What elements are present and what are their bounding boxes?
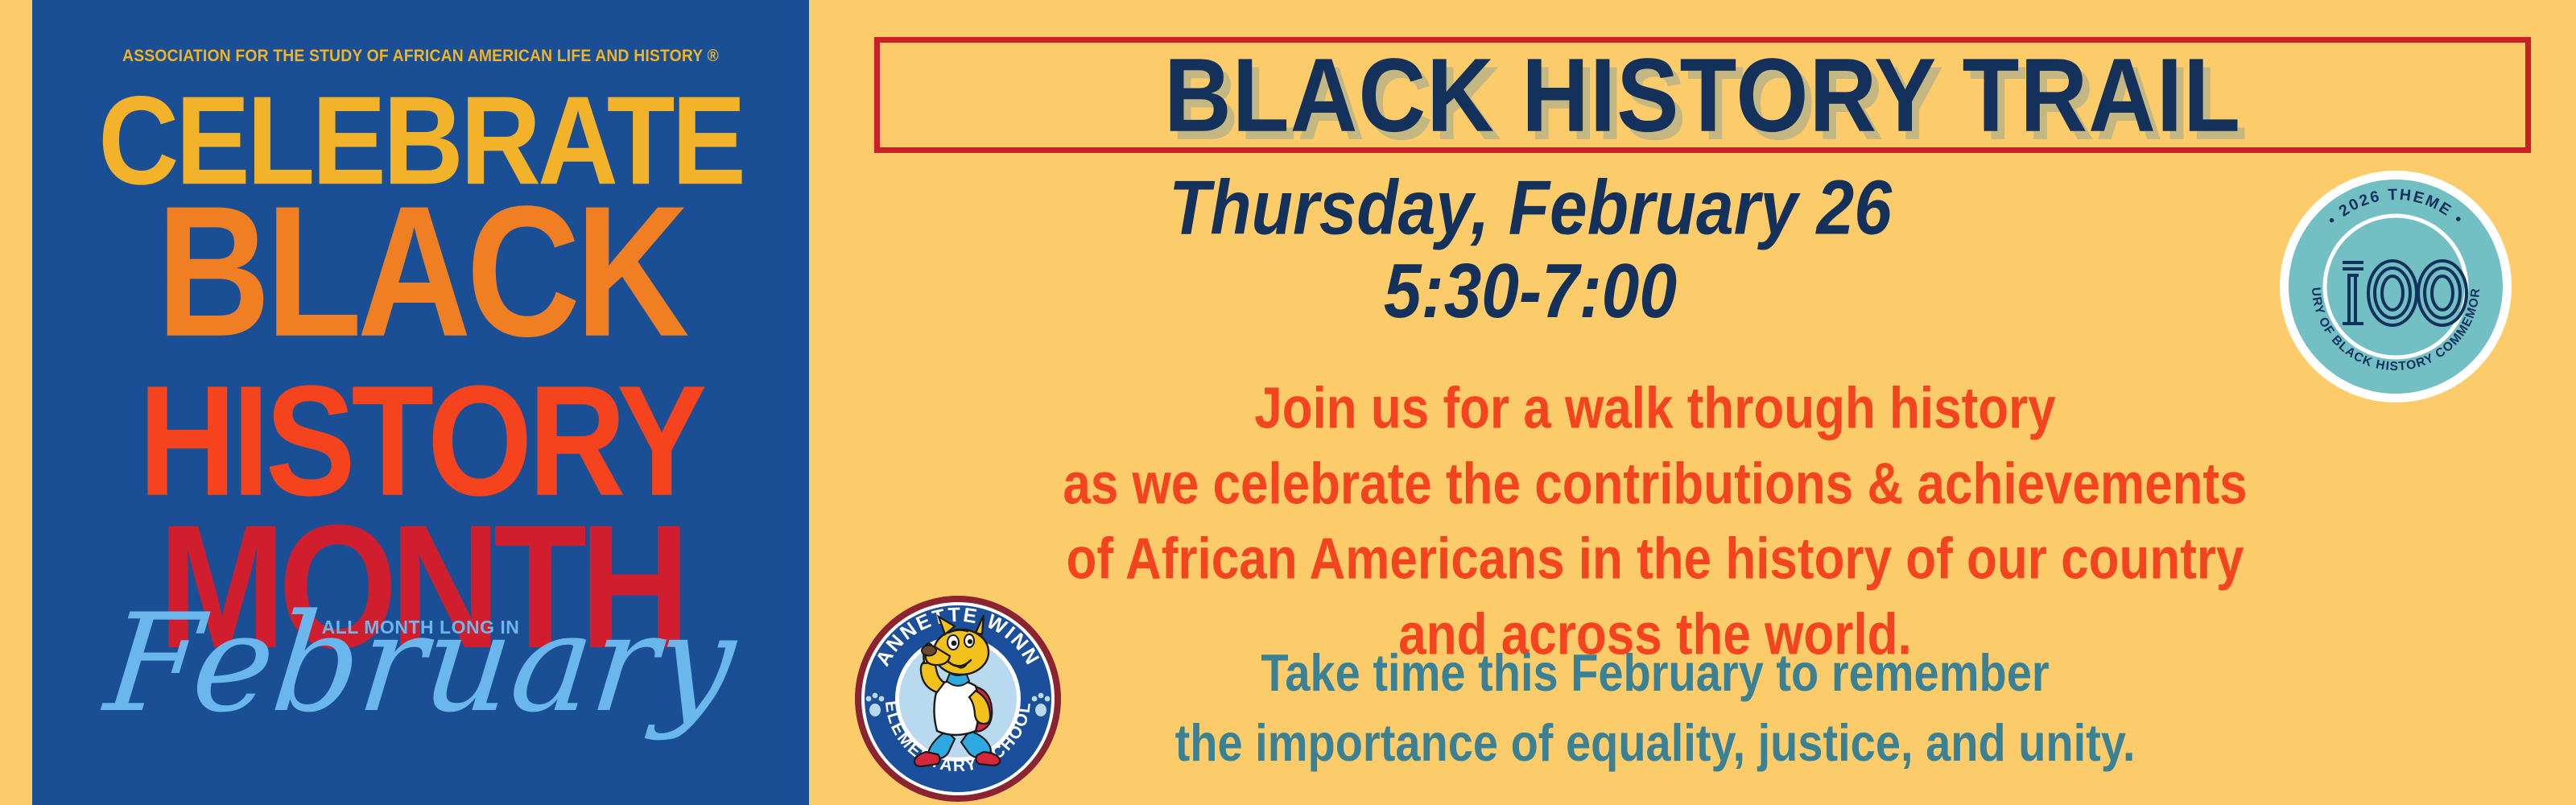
closing-line-2: the importance of equality, justice, and… [971,708,2339,778]
closing-message: Take time this February to remember the … [971,638,2339,778]
closing-line-1: Take time this February to remember [971,638,2339,708]
event-date-line: Thursday, February 26 [874,166,2186,249]
asalh-2026-theme-badge: • 2026 THEME • A CENTURY OF BLACK HISTOR… [2275,166,2516,407]
asalh-script-february: February [32,596,809,731]
event-datetime: Thursday, February 26 5:30-7:00 [874,166,2186,332]
page-title-box: BLACK HISTORY TRAIL [874,37,2531,153]
asalh-organization-line: ASSOCIATION FOR THE STUDY OF AFRICAN AME… [64,47,778,66]
asalh-poster-panel: ASSOCIATION FOR THE STUDY OF AFRICAN AME… [32,0,809,805]
page-title: BLACK HISTORY TRAIL [1164,43,2241,147]
event-description: Join us for a walk through history as we… [874,372,2436,673]
description-line-1: Join us for a walk through history [874,372,2436,447]
black-history-trail-banner: ASSOCIATION FOR THE STUDY OF AFRICAN AME… [0,0,2576,805]
event-time-line: 5:30-7:00 [874,249,2186,332]
description-line-2: as we celebrate the contributions & achi… [874,447,2436,522]
description-line-3: of African Americans in the history of o… [874,522,2436,597]
annette-winn-school-logo: ANNETTE WINN ELEMENTARY SCHOOL [848,589,1067,805]
asalh-word-black: BLACK [32,179,809,365]
